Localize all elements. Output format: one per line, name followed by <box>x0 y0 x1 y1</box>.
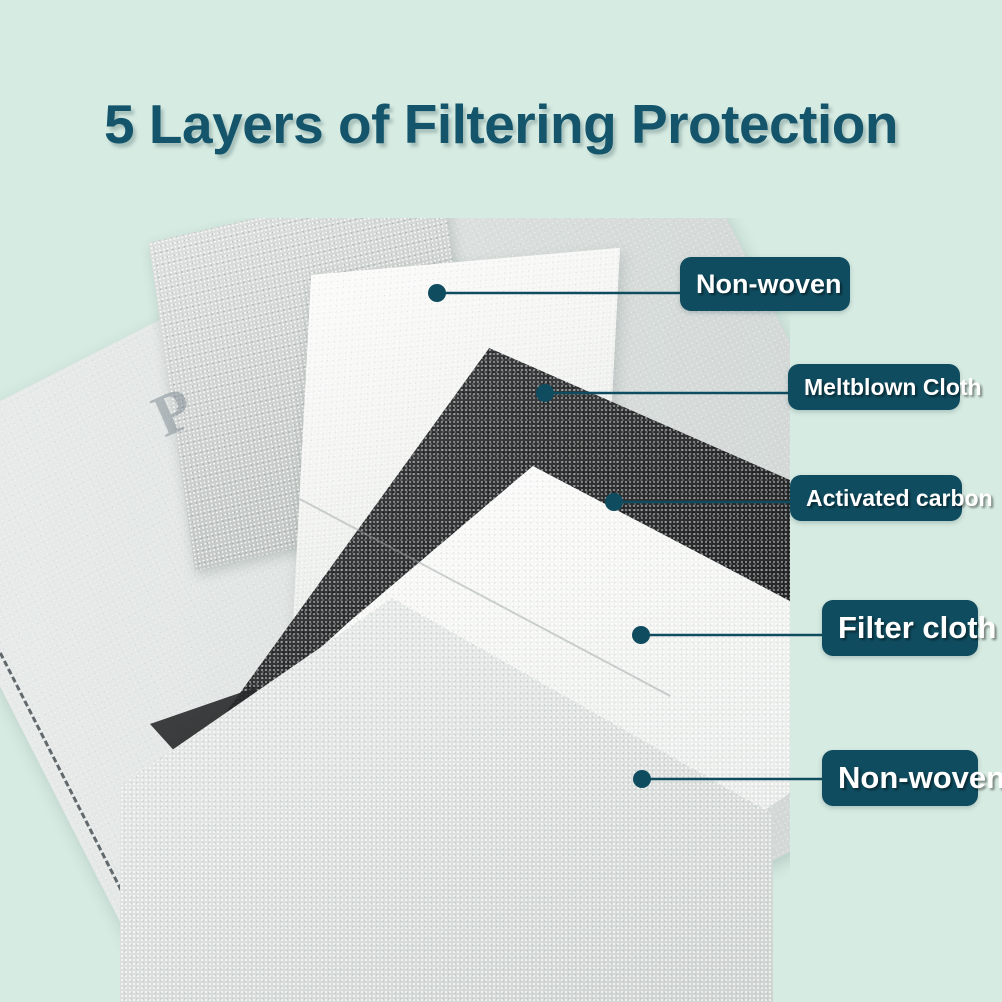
callout-badge-label: Non-woven <box>696 269 842 300</box>
callout-badge-label: Filter cloth <box>838 610 996 646</box>
callout-badge-layer-1[interactable]: Non-woven <box>680 257 850 311</box>
page-title: 5 Layers of Filtering Protection <box>0 92 1002 156</box>
callout-badge-layer-4[interactable]: Filter cloth <box>822 600 978 656</box>
callout-badge-label: Non-woven <box>838 760 1002 796</box>
infographic-canvas: P 5 Layers of Filtering Protection Non-w… <box>0 0 1002 1002</box>
callout-badge-layer-3[interactable]: Activated carbon <box>790 475 962 521</box>
callout-badge-label: Activated carbon <box>806 485 993 512</box>
callout-badge-layer-5[interactable]: Non-woven <box>822 750 978 806</box>
callout-badge-label: Meltblown Cloth <box>804 374 982 401</box>
callout-badge-layer-2[interactable]: Meltblown Cloth <box>788 364 960 410</box>
filter-layers-photo: P <box>0 218 790 1002</box>
